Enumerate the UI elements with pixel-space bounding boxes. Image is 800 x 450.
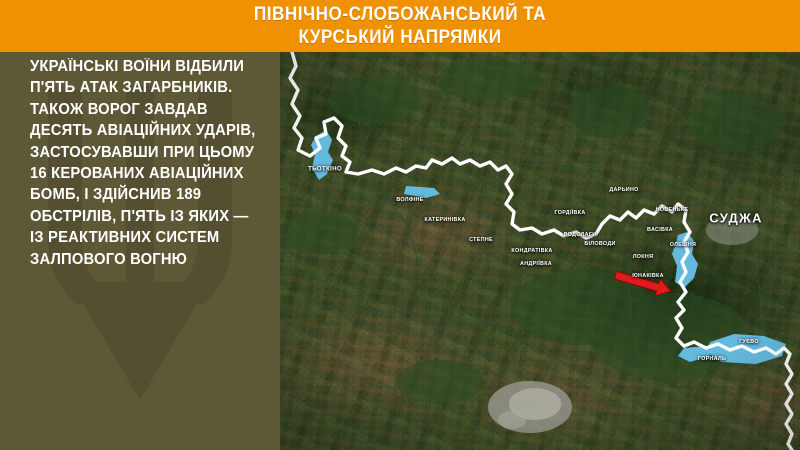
- satellite-map[interactable]: ТЬОТКІНОВОЛФІНЕКАТЕРИНІВКАСТЕПНЕКОНДРАТІ…: [280, 52, 800, 450]
- summary-panel: УКРАЇНСЬКІ ВОЇНИ ВІДБИЛИ П'ЯТЬ АТАК ЗАГА…: [0, 52, 280, 450]
- map-label-settlement: ГОРДІЇВКА: [554, 210, 585, 216]
- map-label-settlement: ТЬОТКІНО: [308, 166, 342, 173]
- map-label-settlement: АНДРІЇВКА: [520, 261, 552, 267]
- map-label-settlement: ЮНАКІВКА: [632, 273, 664, 279]
- map-label-sudzha: СУДЖА: [709, 211, 763, 226]
- map-label-settlement: СТЕПНЕ: [469, 237, 493, 243]
- page-title: ПІВНІЧНО-СЛОБОЖАНСЬКИЙ ТА КУРСЬКИЙ НАПРЯ…: [40, 3, 760, 49]
- map-label-settlement: ДАРЬИНО: [609, 187, 638, 193]
- map-label-settlement: ГОРНАЛЬ: [698, 356, 726, 362]
- map-label-settlement: НОВЕНЬКЕ: [656, 207, 689, 213]
- summary-text: УКРАЇНСЬКІ ВОЇНИ ВІДБИЛИ П'ЯТЬ АТАК ЗАГА…: [30, 56, 260, 270]
- map-label-settlement: КАТЕРИНІВКА: [424, 217, 465, 223]
- header-banner: ПІВНІЧНО-СЛОБОЖАНСЬКИЙ ТА КУРСЬКИЙ НАПРЯ…: [0, 0, 800, 52]
- map-label-settlement: КОНДРАТІВКА: [511, 248, 552, 254]
- map-label-settlement: БІЛОВОДИ: [584, 241, 615, 247]
- map-label-settlement: ВАСІВКА: [647, 227, 673, 233]
- map-label-settlement: ЛОКНЯ: [633, 254, 654, 260]
- page-title-line-2: КУРСЬКИЙ НАПРЯМКИ: [40, 26, 760, 49]
- map-label-settlement: ГУЄВО: [739, 339, 759, 345]
- map-label-settlement: ОЛЕШНЯ: [670, 242, 696, 248]
- map-label-settlement: ВОЛФІНЕ: [396, 197, 423, 203]
- infographic-root: ПІВНІЧНО-СЛОБОЖАНСЬКИЙ ТА КУРСЬКИЙ НАПРЯ…: [0, 0, 800, 450]
- map-label-settlement: ВОДОЛАГИ: [564, 232, 597, 238]
- page-title-line-1: ПІВНІЧНО-СЛОБОЖАНСЬКИЙ ТА: [40, 3, 760, 26]
